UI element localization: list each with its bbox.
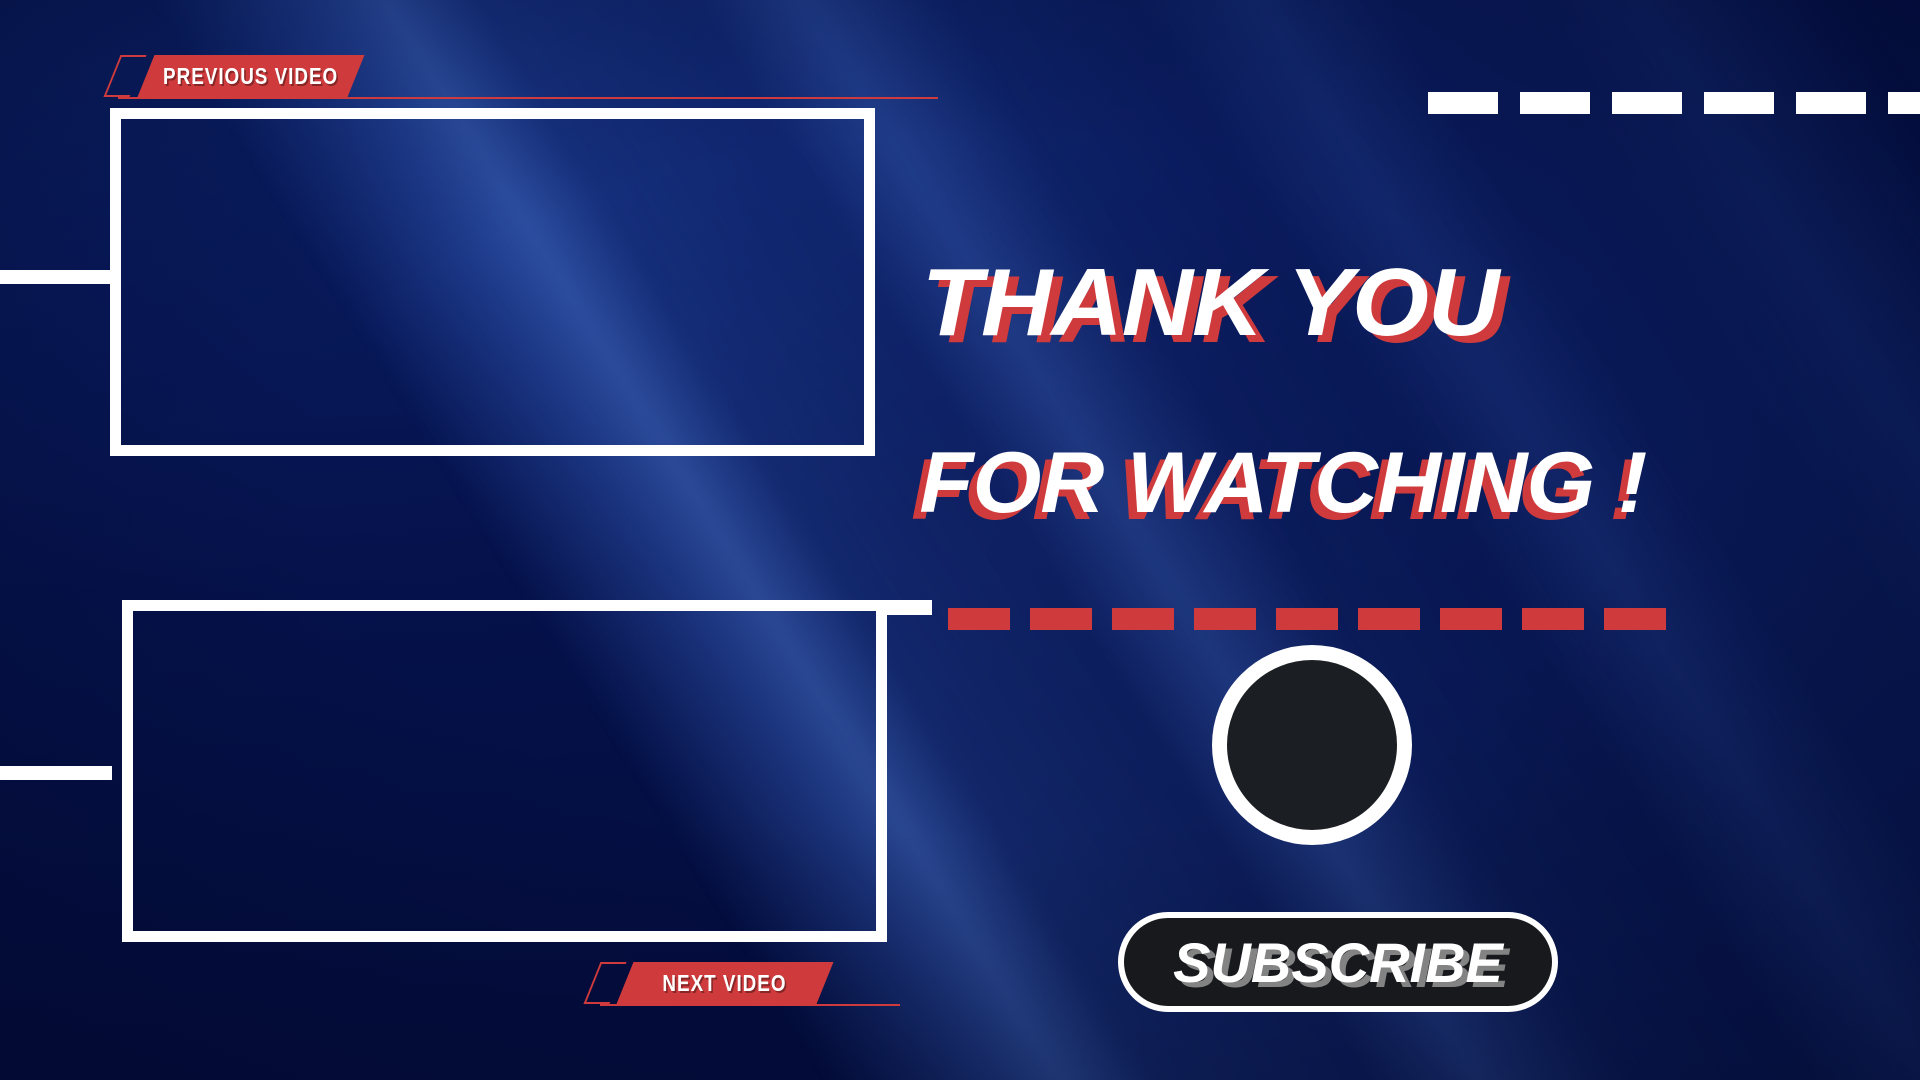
connector-line-next: [0, 766, 112, 780]
dash-segment: [1888, 92, 1920, 114]
dash-segment: [1440, 608, 1502, 630]
dash-segment: [1522, 608, 1584, 630]
next-video-badge[interactable]: NEXT VIDEO: [617, 962, 834, 1004]
end-screen-canvas: PREVIOUS VIDEO NEXT VIDEO THANK YOU FOR …: [0, 0, 1920, 1080]
dash-segment: [1612, 92, 1682, 114]
connector-line-previous: [0, 270, 112, 284]
dash-segment: [948, 608, 1010, 630]
headline-line-1: THANK YOU: [930, 255, 1490, 351]
dash-segment: [1796, 92, 1866, 114]
next-video-badge-label: NEXT VIDEO: [649, 970, 800, 997]
dash-segment: [1112, 608, 1174, 630]
dash-segment: [1520, 92, 1590, 114]
subscribe-button-label: SUBSCRIBE: [1173, 930, 1503, 995]
dash-segment: [1704, 92, 1774, 114]
ribbon-underline-next: [600, 1004, 900, 1006]
dash-segment: [1030, 608, 1092, 630]
channel-avatar[interactable]: [1212, 645, 1412, 845]
previous-video-badge-label: PREVIOUS VIDEO: [144, 63, 358, 90]
dash-segment: [1194, 608, 1256, 630]
white-dashed-rule: [1428, 92, 1920, 114]
dash-segment: [1276, 608, 1338, 630]
subscribe-button[interactable]: SUBSCRIBE: [1118, 912, 1558, 1012]
headline-line-2: FOR WATCHING !: [930, 440, 1636, 526]
dash-segment: [1428, 92, 1498, 114]
dash-segment: [1358, 608, 1420, 630]
next-video-thumbnail[interactable]: [122, 600, 887, 942]
connector-line-next-right: [877, 600, 932, 615]
dash-segment: [1604, 608, 1666, 630]
red-dashed-rule: [948, 608, 1686, 630]
previous-video-thumbnail[interactable]: [110, 108, 875, 456]
previous-video-badge[interactable]: PREVIOUS VIDEO: [138, 55, 365, 97]
ribbon-underline-previous: [118, 97, 938, 99]
